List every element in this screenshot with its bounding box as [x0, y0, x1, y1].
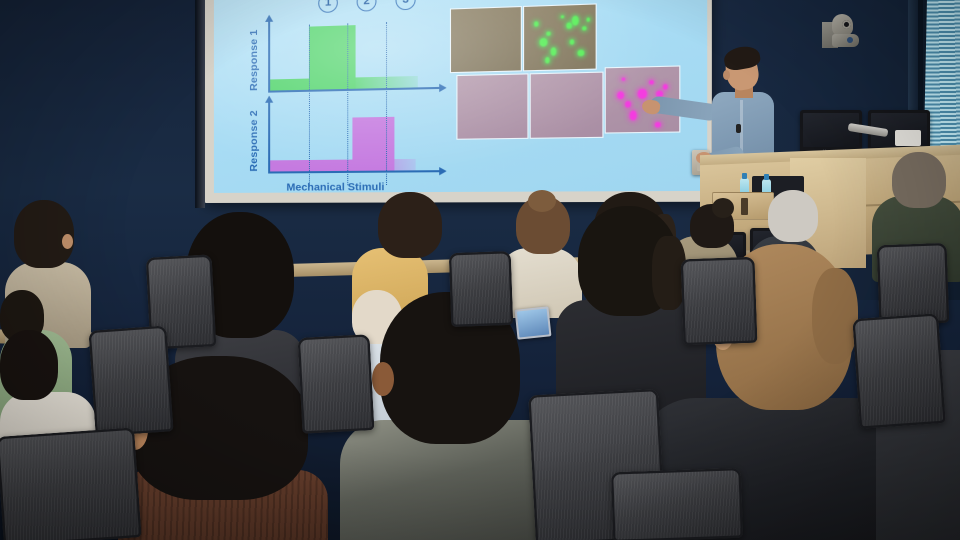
- response-2-bar: [352, 117, 394, 171]
- desk-monitor: Huawei: [800, 110, 862, 154]
- audience-chair[interactable]: [852, 313, 945, 429]
- audience-chair[interactable]: [88, 325, 173, 436]
- micrograph-cell: [456, 73, 528, 139]
- ptz-camera-icon: [822, 14, 862, 50]
- lecture-hall-scene: 1 2 3 Response 1 Response 2: [0, 0, 960, 540]
- micrograph-cell: [523, 3, 597, 71]
- guide-line-2: [347, 23, 348, 185]
- step-marker-2: 2: [357, 0, 377, 12]
- guide-line-3: [386, 22, 387, 185]
- laptop-screen: [517, 309, 550, 338]
- ptz-camera-base: [832, 34, 859, 47]
- chart-panel-response-1: [268, 14, 441, 93]
- presenter-ear: [723, 70, 730, 80]
- presenter-lapel-mic: [736, 124, 741, 133]
- x-axis-label: Mechanical Stimuli: [286, 181, 384, 193]
- ptz-camera-indicator: [847, 37, 853, 43]
- speaker-grill: [741, 198, 748, 215]
- chart-panel-response-2: [268, 97, 441, 173]
- audience-chair[interactable]: [877, 243, 950, 325]
- audience-chair[interactable]: [298, 334, 375, 434]
- micrograph-label-no-ligand: No Ligand: [452, 0, 511, 1]
- audience-chair[interactable]: [449, 251, 514, 327]
- slide-content: 1 2 3 Response 1 Response 2: [214, 0, 707, 193]
- response-1-bar: [309, 25, 356, 90]
- projected-slide: 1 2 3 Response 1 Response 2: [214, 0, 707, 193]
- micrograph-cell: [530, 72, 604, 139]
- guide-line-1: [309, 25, 310, 186]
- micrograph-cell: [450, 6, 522, 73]
- ptz-camera-lens: [842, 20, 851, 29]
- audience-chair[interactable]: [681, 257, 758, 346]
- y-axis-label-response-2: Response 2: [248, 110, 260, 172]
- response-chart: Response 1 Response 2: [244, 12, 441, 188]
- audience-chair[interactable]: [0, 427, 142, 540]
- step-marker-1: 1: [318, 0, 338, 13]
- audience-chair[interactable]: [611, 468, 743, 540]
- projection-screen: 1 2 3 Response 1 Response 2: [205, 0, 712, 203]
- audience-laptop[interactable]: [515, 306, 552, 339]
- step-marker-3: 3: [395, 0, 415, 10]
- desk-device-box: [895, 130, 921, 146]
- y-axis-label-response-1: Response 1: [248, 29, 260, 91]
